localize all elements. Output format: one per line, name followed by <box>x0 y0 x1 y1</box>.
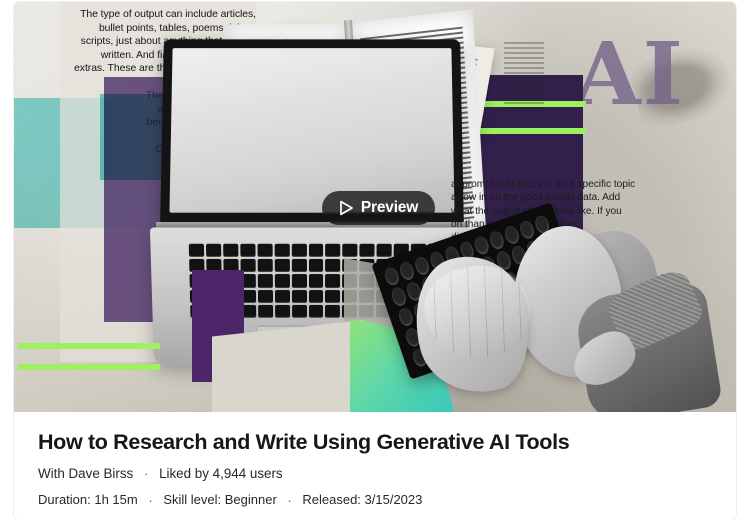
hands-typing-photo <box>386 220 716 412</box>
meta-separator: · <box>287 493 291 509</box>
ai-typography: AI <box>574 32 685 118</box>
course-hero-image[interactable]: The type of output can include articles,… <box>14 2 736 412</box>
course-released: Released: 3/15/2023 <box>302 492 422 507</box>
green-rule-left-1 <box>18 343 160 349</box>
green-rule-left-2 <box>18 364 160 370</box>
course-title[interactable]: How to Research and Write Using Generati… <box>38 430 712 455</box>
course-meta-primary: With Dave Birss · Liked by 4,944 users <box>38 466 712 482</box>
course-card[interactable]: The type of output can include articles,… <box>14 2 736 520</box>
green-rule-right-2 <box>470 128 586 134</box>
laptop-screen <box>169 48 454 213</box>
preview-button[interactable]: Preview <box>322 191 435 225</box>
course-duration: Duration: 1h 15m <box>38 492 138 507</box>
course-skill-level: Skill level: Beginner <box>163 492 276 507</box>
preview-button-label: Preview <box>361 199 418 217</box>
meta-separator: · <box>144 466 148 482</box>
course-meta-secondary: Duration: 1h 15m · Skill level: Beginner… <box>38 492 712 508</box>
microtype-column-a <box>504 42 544 112</box>
meta-separator: · <box>148 493 152 509</box>
play-triangle-icon <box>339 200 354 216</box>
course-info-panel: How to Research and Write Using Generati… <box>14 412 736 520</box>
course-author: With Dave Birss <box>38 466 133 481</box>
course-likes: Liked by 4,944 users <box>159 466 283 481</box>
